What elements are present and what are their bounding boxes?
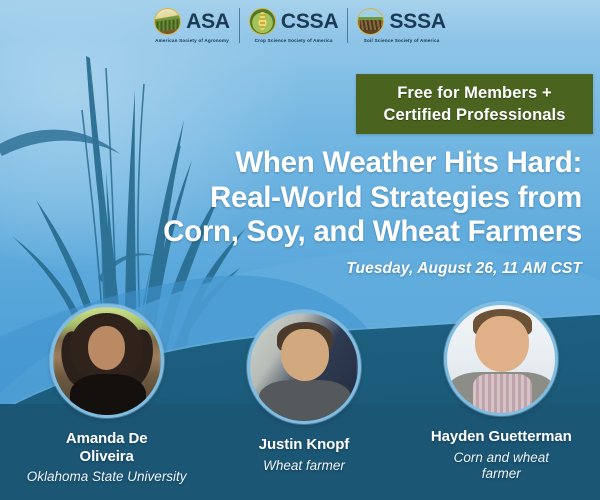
- webinar-promo-poster: ASA American Society of Agronomy CSSA Cr…: [0, 0, 600, 500]
- speaker-role-line-1: Wheat farmer: [263, 458, 345, 474]
- cssa-seal-icon: [249, 8, 276, 35]
- free-for-members-badge: Free for Members + Certified Professiona…: [356, 74, 593, 134]
- asa-acronym: ASA: [186, 11, 230, 32]
- speaker-card-hayden-guetterman: Hayden Guetterman Corn and wheat farmer: [403, 300, 600, 482]
- speaker-role-line-1: Oklahoma State University: [27, 469, 187, 485]
- logo-cssa[interactable]: CSSA Crop Science Society of America: [239, 8, 348, 43]
- avatar-hayden-guetterman: [444, 302, 558, 416]
- speaker-card-justin-knopf: Justin Knopf Wheat farmer: [205, 300, 402, 474]
- headline-line-3: Corn, Soy, and Wheat Farmers: [162, 215, 582, 250]
- logo-sssa[interactable]: SSSA Soil Science Society of America: [347, 8, 454, 43]
- speaker-name-line-1: Amanda De: [66, 430, 148, 448]
- asa-seal-icon: [154, 8, 181, 35]
- speaker-role-amanda-de-oliveira: Oklahoma State University: [27, 469, 187, 485]
- speaker-name-line-2: Oliveira: [66, 448, 148, 466]
- sssa-full-name: Soil Science Society of America: [364, 38, 440, 43]
- speaker-card-amanda-de-oliveira: Amanda De Oliveira Oklahoma State Univer…: [8, 300, 205, 486]
- avatar-amanda-de-oliveira: [50, 304, 164, 418]
- speaker-name-justin-knopf: Justin Knopf: [259, 436, 349, 454]
- speaker-role-line-1: Corn and wheat: [454, 450, 549, 466]
- avatar-justin-knopf: [247, 310, 361, 424]
- speaker-role-line-2: farmer: [454, 466, 549, 482]
- page-title: When Weather Hits Hard: Real-World Strat…: [162, 146, 582, 250]
- asa-full-name: American Society of Agronomy: [155, 38, 229, 43]
- speaker-role-justin-knopf: Wheat farmer: [263, 458, 345, 474]
- speaker-name-line-1: Justin Knopf: [259, 436, 349, 454]
- headline-line-1: When Weather Hits Hard:: [162, 146, 582, 181]
- badge-line-1: Free for Members +: [397, 82, 551, 104]
- speaker-list: Amanda De Oliveira Oklahoma State Univer…: [0, 300, 600, 500]
- sssa-seal-icon: [357, 8, 384, 35]
- society-logo-bar: ASA American Society of Agronomy CSSA Cr…: [0, 8, 600, 43]
- speaker-name-amanda-de-oliveira: Amanda De Oliveira: [66, 430, 148, 465]
- event-datetime: Tuesday, August 26, 11 AM CST: [346, 260, 582, 278]
- cssa-acronym: CSSA: [281, 11, 339, 32]
- speaker-name-hayden-guetterman: Hayden Guetterman: [431, 428, 572, 446]
- headline-line-2: Real-World Strategies from: [162, 181, 582, 216]
- cssa-full-name: Crop Science Society of America: [255, 38, 333, 43]
- sssa-acronym: SSSA: [389, 11, 445, 32]
- speaker-name-line-1: Hayden Guetterman: [431, 428, 572, 446]
- badge-line-2: Certified Professionals: [383, 104, 565, 126]
- logo-asa[interactable]: ASA American Society of Agronomy: [145, 8, 239, 43]
- speaker-role-hayden-guetterman: Corn and wheat farmer: [454, 450, 549, 482]
